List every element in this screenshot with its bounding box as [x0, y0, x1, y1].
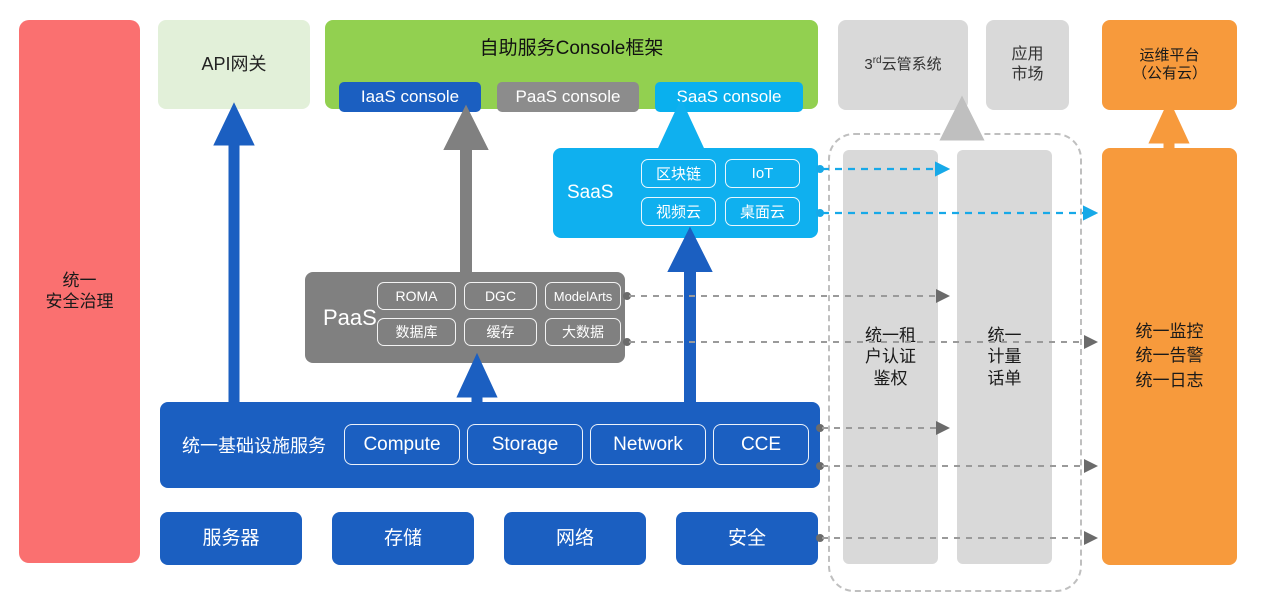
monitor-line2: 统一告警	[1136, 344, 1204, 369]
third-party-cloud-mgmt-box: 3rd云管系统	[838, 20, 968, 110]
ops-platform-box: 运维平台 （公有云）	[1102, 20, 1237, 110]
saas-service-iot[interactable]: IoT	[725, 159, 800, 188]
paas-service-bigdata[interactable]: 大数据	[545, 318, 621, 346]
arrow-region-to-third-party	[950, 110, 974, 134]
billing-line1: 统一	[988, 325, 1022, 346]
monitor-line3: 统一日志	[1136, 369, 1204, 394]
arrow-paas-to-console	[453, 118, 479, 272]
arrow-saas-to-console	[668, 114, 694, 150]
ops-platform-line2: （公有云）	[1132, 65, 1207, 83]
app-market-line1: 应用	[1011, 45, 1043, 65]
hardware-box-network[interactable]: 网络	[504, 512, 646, 565]
console-framework-title: 自助服务Console框架	[325, 20, 818, 72]
arrow-monitoring-to-ops-platform	[1157, 112, 1181, 148]
iaas-service-storage[interactable]: Storage	[467, 424, 583, 465]
paas-service-database[interactable]: 数据库	[377, 318, 456, 346]
saas-service-desktop-cloud[interactable]: 桌面云	[725, 197, 800, 226]
auth-line3: 鉴权	[874, 368, 908, 389]
unified-tenant-auth-column: 统一租 户认证 鉴权	[843, 150, 938, 564]
iaas-service-compute[interactable]: Compute	[344, 424, 460, 465]
api-gateway-label: API网关	[201, 54, 266, 76]
paas-console-button[interactable]: PaaS console	[497, 82, 639, 112]
iaas-service-network[interactable]: Network	[590, 424, 706, 465]
hardware-box-security[interactable]: 安全	[676, 512, 818, 565]
paas-service-cache[interactable]: 缓存	[464, 318, 537, 346]
iaas-service-cce[interactable]: CCE	[713, 424, 809, 465]
unified-infrastructure-bar: 统一基础设施服务 Compute Storage Network CCE	[160, 402, 820, 488]
billing-line3: 话单	[988, 368, 1022, 389]
security-governance-line1: 统一	[63, 271, 97, 292]
architecture-diagram: 统一 安全治理 API网关 自助服务Console框架 IaaS console…	[0, 0, 1265, 605]
monitor-line1: 统一监控	[1136, 320, 1204, 345]
ops-platform-line1: 运维平台	[1139, 47, 1199, 65]
paas-label: PaaS	[323, 305, 377, 331]
paas-service-modelarts[interactable]: ModelArts	[545, 282, 621, 310]
arrow-iaas-to-saas	[677, 240, 703, 402]
hardware-box-storage[interactable]: 存储	[332, 512, 474, 565]
billing-line2: 计量	[988, 346, 1022, 367]
app-market-box: 应用 市场	[986, 20, 1069, 110]
security-governance-column: 统一 安全治理	[19, 20, 140, 563]
iaas-console-button[interactable]: IaaS console	[339, 82, 481, 112]
hardware-box-server[interactable]: 服务器	[160, 512, 302, 565]
unified-infrastructure-label: 统一基础设施服务	[182, 432, 326, 458]
paas-service-dgc[interactable]: DGC	[464, 282, 537, 310]
unified-monitoring-column: 统一监控 统一告警 统一日志	[1102, 148, 1237, 565]
third-party-cloud-mgmt-label: 3rd云管系统	[864, 55, 941, 74]
saas-label: SaaS	[567, 182, 613, 204]
arrow-iaas-to-api-gateway	[222, 115, 246, 402]
saas-service-video-cloud[interactable]: 视频云	[641, 197, 716, 226]
auth-line1: 统一租	[865, 325, 916, 346]
paas-service-roma[interactable]: ROMA	[377, 282, 456, 310]
paas-panel: PaaS ROMA DGC ModelArts 数据库 缓存 大数据	[305, 272, 625, 363]
auth-line2: 户认证	[865, 346, 916, 367]
console-framework-panel: 自助服务Console框架 IaaS console PaaS console …	[325, 20, 818, 109]
api-gateway-box: API网关	[158, 20, 310, 109]
saas-console-button[interactable]: SaaS console	[655, 82, 803, 112]
app-market-line2: 市场	[1011, 65, 1043, 85]
saas-panel: SaaS 区块链 IoT 视频云 桌面云	[553, 148, 818, 238]
arrow-iaas-to-paas	[465, 366, 489, 402]
saas-service-blockchain[interactable]: 区块链	[641, 159, 716, 188]
unified-billing-column: 统一 计量 话单	[957, 150, 1052, 564]
security-governance-line2: 安全治理	[46, 292, 114, 313]
